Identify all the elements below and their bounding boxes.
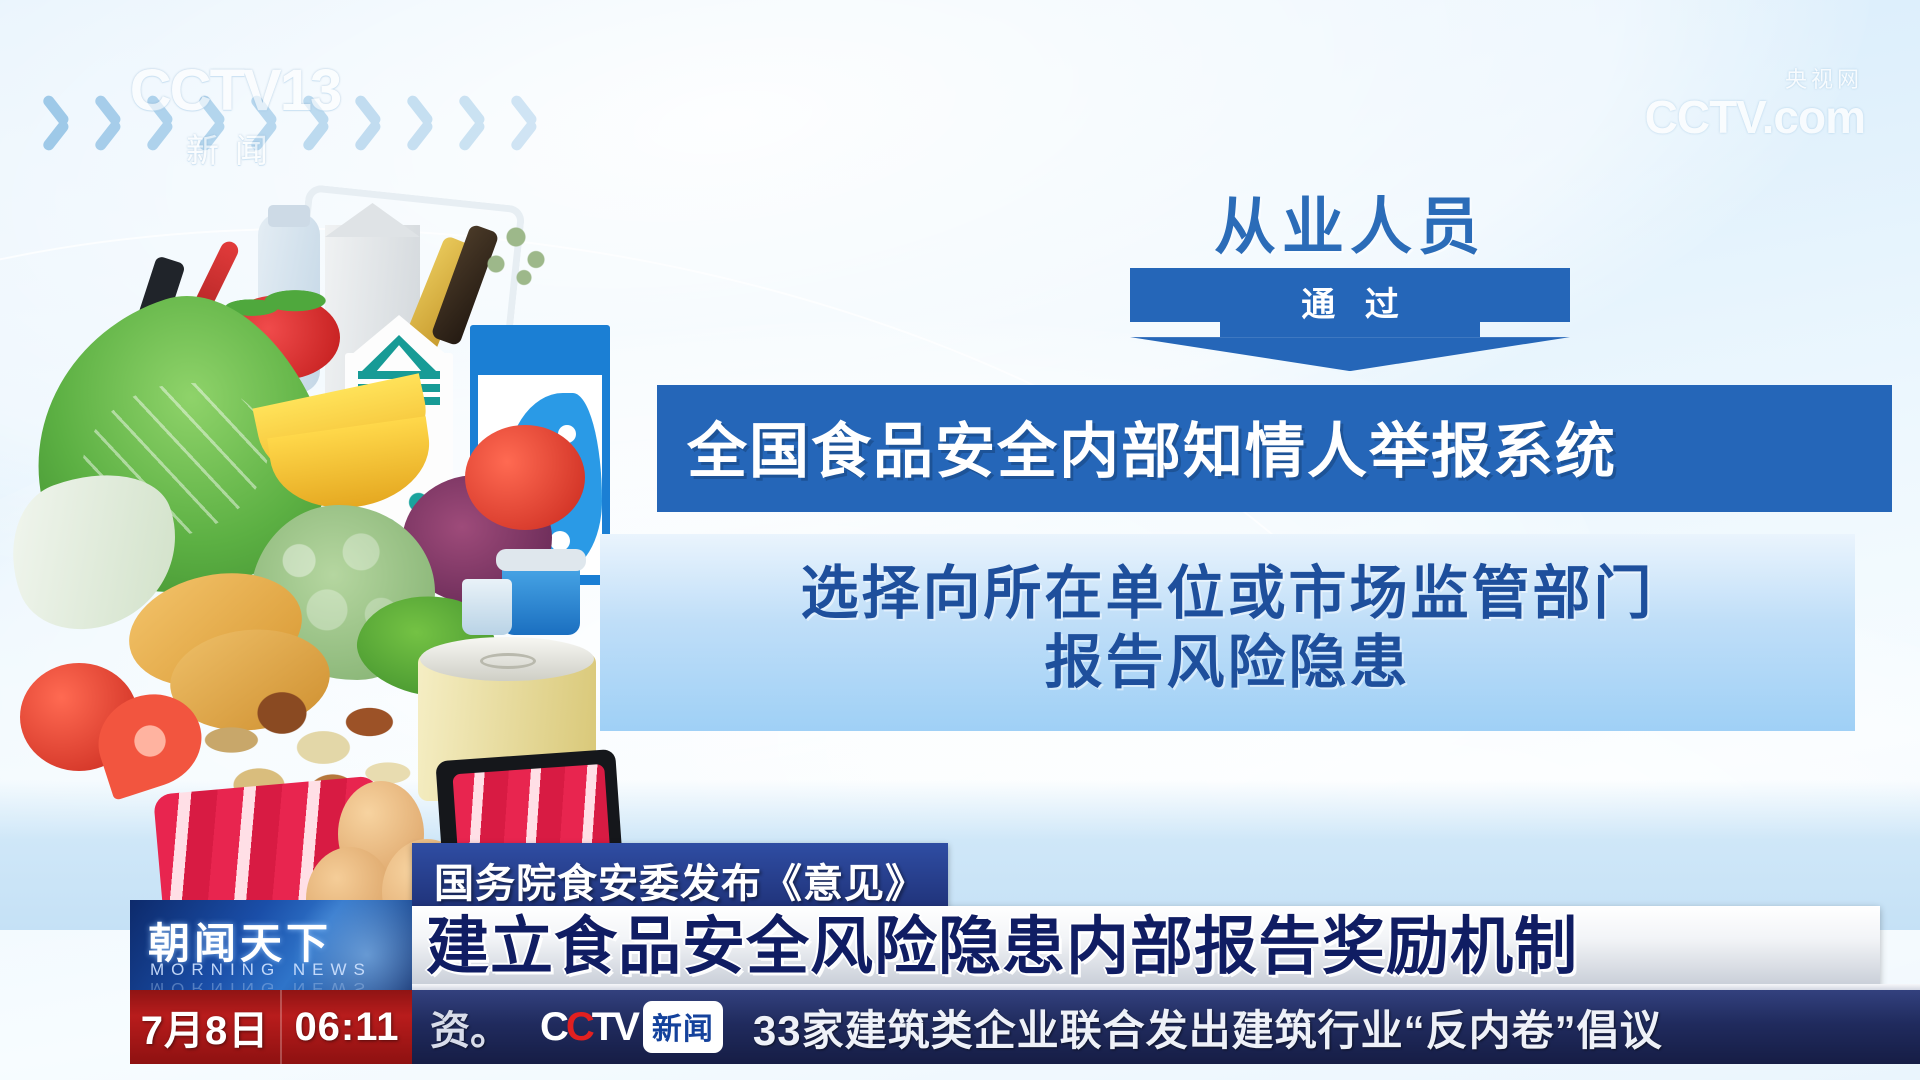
arrow-point-down-icon [1130, 337, 1570, 371]
can-pull-tab-icon [480, 653, 536, 669]
time-cell: 06:11 [282, 990, 412, 1064]
yogurt-cup-small-icon [462, 579, 512, 635]
infographic-panel: 从业人员 通 过 全国食品安全内部知情人举报系统 选择向所在单位或市场监管部门 … [660, 195, 1900, 731]
date-text: 7月8日 [141, 998, 270, 1056]
tomato-icon [465, 425, 585, 530]
news-ticker[interactable]: 资。 CCTV 新闻 33家建筑类企业联合发出建筑行业“反内卷”倡议 [412, 990, 1920, 1064]
chevron-left-icon [422, 92, 456, 148]
channel-logo-subtitle: 新闻 [110, 124, 360, 172]
program-logo: 朝闻天下 MORNING NEWS MORNING NEWS [130, 900, 412, 990]
infographic-arrow-banner: 通 过 [1220, 268, 1480, 371]
time-text: 06:11 [294, 1005, 399, 1050]
chevron-left-icon [474, 92, 508, 148]
arrow-wing-right [1480, 268, 1570, 322]
food-basket-illustration [10, 175, 710, 855]
website-brand-label: CCTV.com [1645, 94, 1865, 140]
ticker-news-badge: 新闻 [643, 1001, 723, 1053]
infographic-sub-line-2: 报告风险隐患 [600, 629, 1855, 697]
lower-third-headline-text: 建立食品安全风险隐患内部报告奖励机制 [412, 916, 1578, 979]
channel-logo-watermark: CCTV13 新闻 [110, 62, 360, 172]
chevron-left-icon [370, 92, 404, 148]
ticker-headline-text: 33家建筑类企业联合发出建筑行业“反内卷”倡议 [753, 997, 1663, 1058]
infographic-kicker: 从业人员 [1040, 195, 1660, 260]
infographic-sub-band: 选择向所在单位或市场监管部门 报告风险隐患 [600, 534, 1855, 731]
infographic-main-band-text: 全国食品安全内部知情人举报系统 [687, 403, 1862, 490]
yogurt-cup-icon [502, 563, 580, 635]
arrow-wing-left [1130, 268, 1220, 322]
program-name-en: MORNING NEWS [150, 960, 372, 980]
milk-bubble-icon [550, 531, 570, 551]
channel-logo-text: CCTV13 [110, 62, 360, 120]
datetime-bar: 7月8日 06:11 [130, 990, 412, 1064]
infographic-tab-label: 通 过 [1220, 268, 1480, 337]
herb-sprig-icon [480, 210, 560, 300]
yogurt-cup-lid-icon [496, 549, 586, 571]
program-name-en-reflection: MORNING NEWS [150, 978, 372, 990]
lower-third-kicker-text: 国务院食安委发布《意见》 [434, 851, 926, 909]
lower-third-headline-bar: 建立食品安全风险隐患内部报告奖励机制 [412, 906, 1880, 988]
chevron-left-icon [526, 92, 560, 148]
ticker-cctv-letters: CCTV [540, 1007, 637, 1047]
infographic-sub-line-1: 选择向所在单位或市场监管部门 [600, 560, 1855, 628]
ticker-previous-fragment: 资。 [430, 998, 510, 1056]
chevron-left-icon [58, 92, 92, 148]
ticker-cctv-news-logo: CCTV 新闻 [540, 1001, 723, 1053]
website-cn-label: 央视网 [1645, 62, 1863, 94]
website-watermark: 央视网 CCTV.com [1645, 62, 1865, 140]
date-cell: 7月8日 [130, 990, 282, 1064]
infographic-main-band: 全国食品安全内部知情人举报系统 [657, 385, 1892, 512]
infographic-top-line: 从业人员 通 过 [1040, 195, 1660, 371]
bottle-cap-icon [268, 205, 310, 227]
